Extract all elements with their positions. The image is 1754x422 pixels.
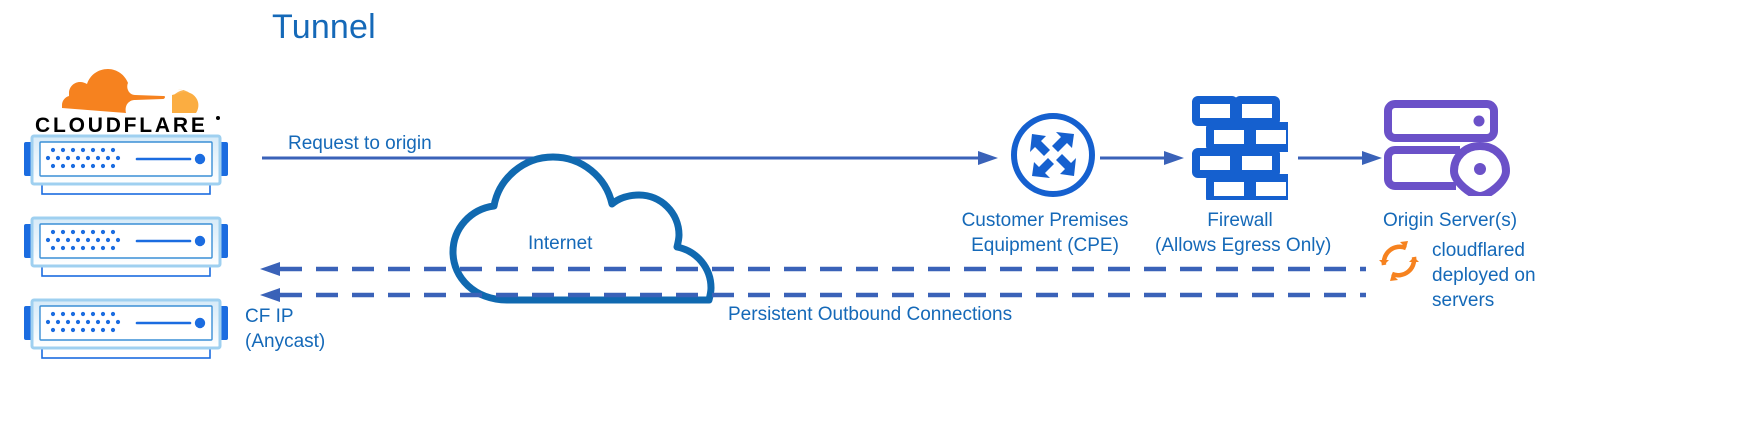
cpe-to-firewall-arrow: [1100, 148, 1188, 173]
brick-wall-icon: [1192, 96, 1288, 205]
cloudflared-label: cloudflared deployed on servers: [1432, 238, 1552, 313]
cloudflare-logo: CLOUDFLARE: [30, 66, 230, 138]
server-rack-icon: [22, 134, 230, 198]
origin-server-pin-icon: [1384, 100, 1510, 201]
page-title: Tunnel: [272, 8, 376, 47]
cpe-label: Customer Premises Equipment (CPE): [930, 208, 1160, 258]
cloudflared-label-line3: servers: [1432, 288, 1552, 313]
sync-arrows-icon: [1376, 238, 1422, 289]
server-rack-icon: [22, 298, 230, 362]
persistent-outbound-label: Persistent Outbound Connections: [728, 302, 1012, 327]
internet-label: Internet: [528, 231, 592, 256]
tunnel-diagram: Tunnel CLOUDFLARE: [0, 0, 1754, 422]
cpe-label-line1: Customer Premises: [930, 208, 1160, 233]
cf-ip-label: CF IP (Anycast): [245, 304, 325, 354]
firewall-label: Firewall (Allows Egress Only): [1155, 208, 1325, 258]
server-rack-icon: [22, 216, 230, 280]
cpe-label-line2: Equipment (CPE): [930, 233, 1160, 258]
firewall-label-line2: (Allows Egress Only): [1155, 233, 1325, 258]
cloudflared-label-line1: cloudflared: [1432, 238, 1552, 263]
firewall-to-origin-arrow: [1298, 148, 1386, 173]
origin-server-label: Origin Server(s): [1360, 208, 1540, 233]
cf-ip-line2: (Anycast): [245, 329, 325, 354]
four-arrows-circle-icon: [1008, 110, 1098, 205]
request-to-origin-label: Request to origin: [288, 131, 432, 156]
cloudflare-cloud-icon: CLOUDFLARE: [30, 66, 230, 138]
origin-label-line1: Origin Server(s): [1360, 208, 1540, 233]
firewall-label-line1: Firewall: [1155, 208, 1325, 233]
cf-ip-line1: CF IP: [245, 304, 325, 329]
cloudflared-label-line2: deployed on: [1432, 263, 1552, 288]
